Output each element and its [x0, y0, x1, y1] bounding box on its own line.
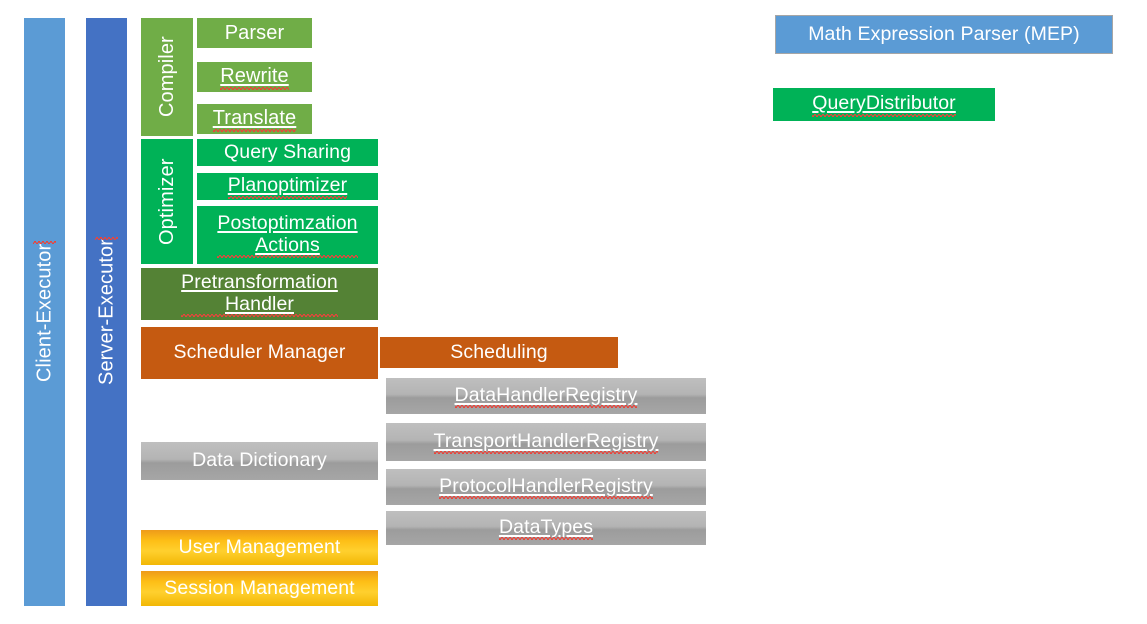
data-dictionary-label: Data Dictionary — [192, 450, 327, 472]
optimizer-item-postoptimization-actions[interactable]: Postoptimzation Actions — [197, 206, 378, 264]
scheduling-label: Scheduling — [450, 342, 548, 364]
optimizer-item-planoptimizer-label: Planoptimizer — [228, 175, 347, 198]
registry-transporthandlerregistry[interactable]: TransportHandlerRegistry — [386, 423, 706, 461]
registry-datahandlerregistry[interactable]: DataHandlerRegistry — [386, 378, 706, 414]
compiler-item-rewrite-label: Rewrite — [220, 65, 289, 88]
registry-protocolhandlerregistry[interactable]: ProtocolHandlerRegistry — [386, 469, 706, 505]
session-management-label: Session Management — [164, 578, 354, 600]
group-optimizer-label: Optimizer — [156, 158, 178, 244]
optimizer-item-planoptimizer[interactable]: Planoptimizer — [197, 173, 378, 200]
registry-datatypes[interactable]: DataTypes — [386, 511, 706, 545]
compiler-item-translate-label: Translate — [213, 107, 297, 130]
registry-protocolhandlerregistry-label: ProtocolHandlerRegistry — [439, 476, 653, 499]
group-optimizer[interactable]: Optimizer — [141, 139, 193, 264]
registry-datatypes-label: DataTypes — [499, 517, 593, 540]
legend-math-expression-parser[interactable]: Math Expression Parser (MEP) — [775, 15, 1113, 54]
user-management-block[interactable]: User Management — [141, 530, 378, 565]
optimizer-item-postoptimization-actions-label: Postoptimzation Actions — [217, 213, 357, 258]
group-compiler[interactable]: Compiler — [141, 18, 193, 136]
pretransformation-handler-block[interactable]: Pretransformation Handler — [141, 268, 378, 320]
registry-transporthandlerregistry-label: TransportHandlerRegistry — [434, 431, 659, 454]
client-executor-bar[interactable]: Client-Executor — [24, 18, 65, 606]
scheduler-manager-block[interactable]: Scheduler Manager — [141, 327, 378, 379]
registry-datahandlerregistry-label: DataHandlerRegistry — [455, 385, 638, 408]
diagram-canvas: Client-Executor Server-Executor Compiler… — [0, 0, 1147, 624]
server-executor-label: Server-Executor — [95, 239, 117, 386]
legend-math-expression-parser-label: Math Expression Parser (MEP) — [808, 24, 1080, 46]
group-compiler-label: Compiler — [156, 37, 178, 118]
optimizer-item-query-sharing-label: Query Sharing — [224, 142, 351, 164]
session-management-block[interactable]: Session Management — [141, 571, 378, 606]
compiler-item-parser[interactable]: Parser — [197, 18, 312, 48]
data-dictionary-block[interactable]: Data Dictionary — [141, 442, 378, 480]
spellcheck-underline: Server-Executor — [95, 239, 117, 386]
user-management-label: User Management — [179, 537, 341, 559]
client-executor-label: Client-Executor — [33, 242, 55, 381]
scheduling-block[interactable]: Scheduling — [380, 337, 618, 368]
compiler-item-parser-label: Parser — [225, 22, 285, 44]
spellcheck-underline: Client-Executor — [33, 242, 55, 381]
optimizer-item-query-sharing[interactable]: Query Sharing — [197, 139, 378, 166]
legend-query-distributor[interactable]: QueryDistributor — [773, 88, 995, 121]
scheduler-manager-label: Scheduler Manager — [174, 342, 346, 364]
server-executor-bar[interactable]: Server-Executor — [86, 18, 127, 606]
pretransformation-handler-label: Pretransformation Handler — [181, 272, 338, 317]
compiler-item-rewrite[interactable]: Rewrite — [197, 62, 312, 92]
legend-query-distributor-label: QueryDistributor — [812, 93, 956, 116]
compiler-item-translate[interactable]: Translate — [197, 104, 312, 134]
